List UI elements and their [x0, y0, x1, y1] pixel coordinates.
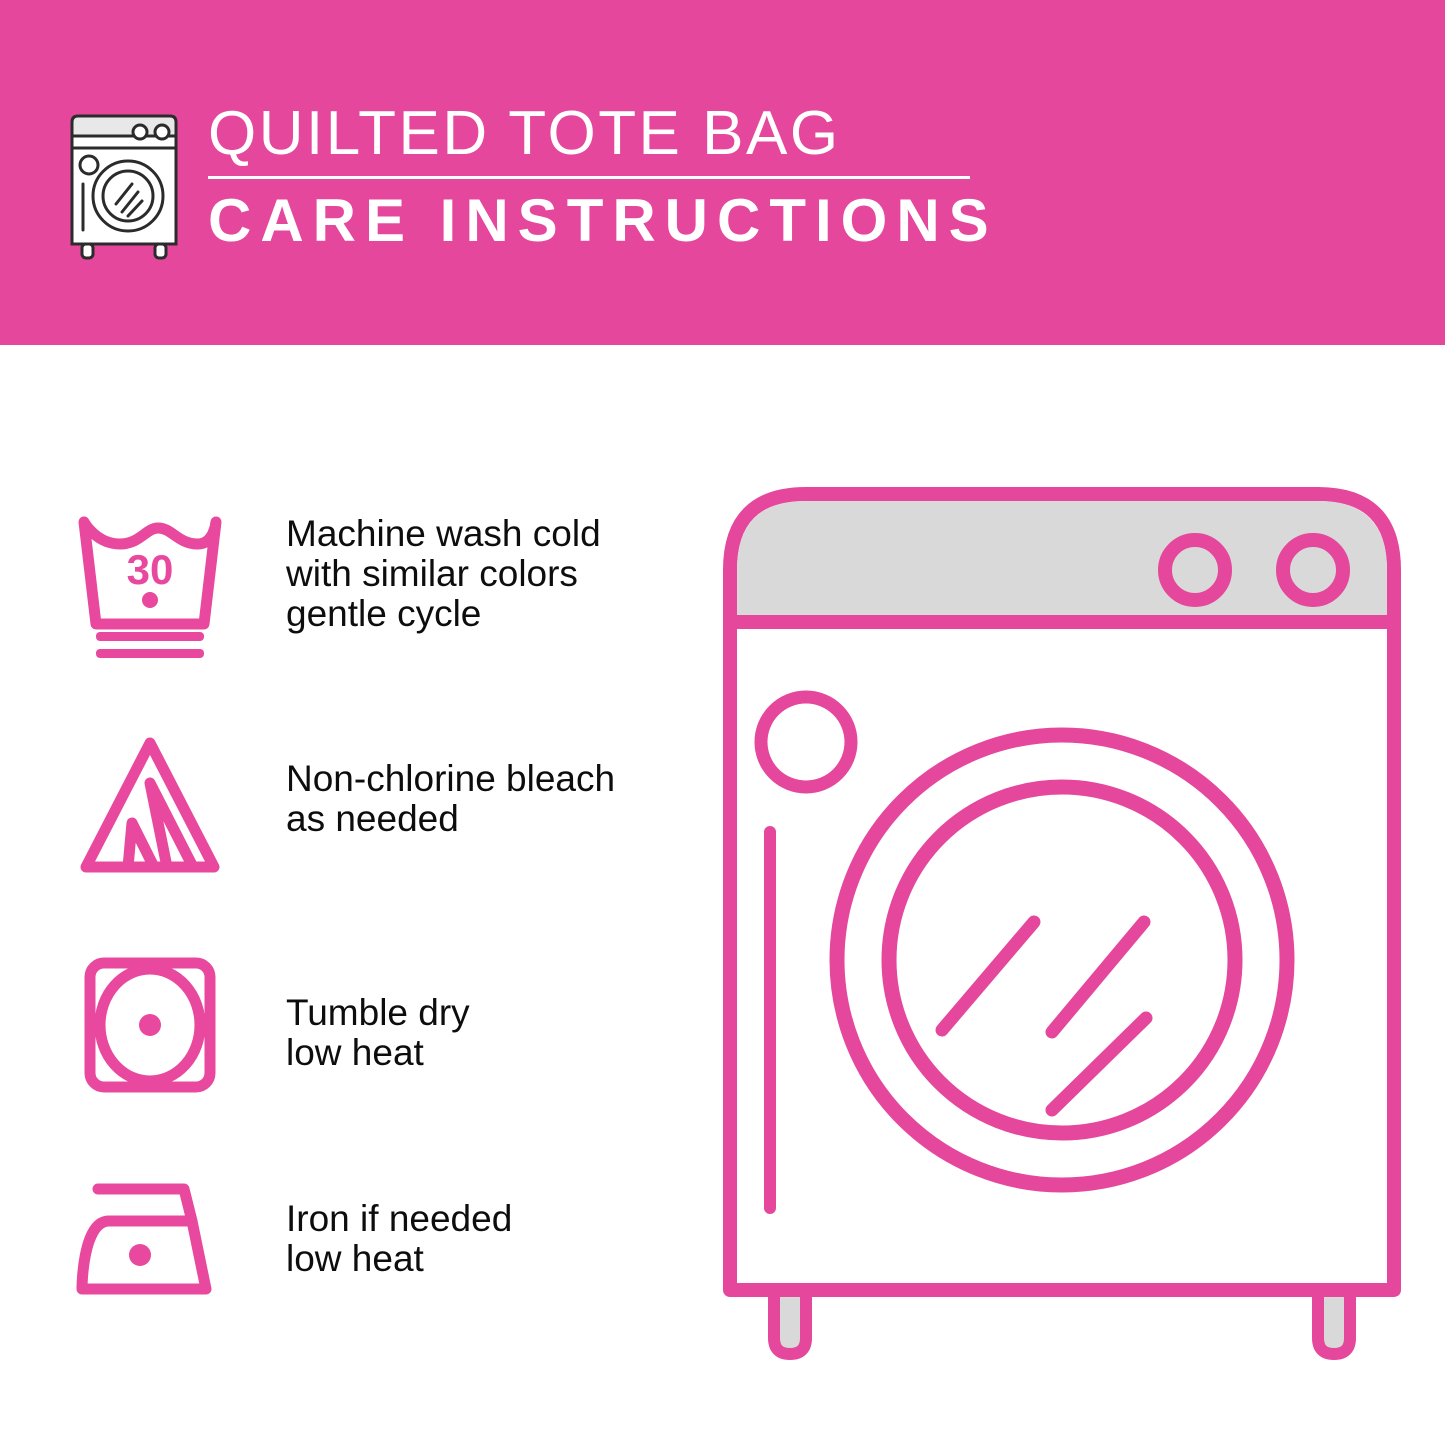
washer-leg-left — [774, 1290, 806, 1354]
header-content: QUILTED TOTE BAG CARE INSTRUCTIONS — [58, 100, 998, 260]
product-title: QUILTED TOTE BAG — [208, 100, 998, 168]
instruction-text-bleach: Non-chlorine bleach as needed — [286, 759, 615, 839]
instruction-text-machine-wash: Machine wash cold with similar colors ge… — [286, 514, 601, 634]
instruction-text-iron: Iron if needed low heat — [286, 1199, 512, 1279]
instruction-text-tumble-dry: Tumble dry low heat — [286, 993, 470, 1073]
wash-basin-30-gentle-icon: 30 — [66, 500, 234, 660]
front-load-washing-machine-illustration — [712, 470, 1412, 1370]
instruction-row-bleach: Non-chlorine bleach as needed — [66, 727, 686, 887]
instruction-row-tumble-dry: Tumble dry low heat — [66, 945, 686, 1105]
header-titles: QUILTED TOTE BAG CARE INSTRUCTIONS — [208, 100, 998, 253]
washer-leg-right — [1318, 1290, 1350, 1354]
care-instructions-list: 30 Machine wash cold with similar colors… — [0, 345, 700, 1445]
non-chlorine-bleach-triangle-icon — [66, 727, 234, 887]
instruction-row-iron: Iron if needed low heat — [66, 1157, 686, 1317]
title-divider — [208, 176, 970, 179]
header-banner: QUILTED TOTE BAG CARE INSTRUCTIONS — [0, 0, 1445, 345]
wash-temperature-label: 30 — [127, 546, 174, 593]
tumble-dry-low-heat-icon — [66, 945, 234, 1105]
washing-machine-icon — [58, 108, 190, 260]
section-title: CARE INSTRUCTIONS — [208, 189, 998, 253]
instruction-row-machine-wash: 30 Machine wash cold with similar colors… — [66, 500, 686, 660]
iron-low-heat-icon — [66, 1157, 234, 1317]
